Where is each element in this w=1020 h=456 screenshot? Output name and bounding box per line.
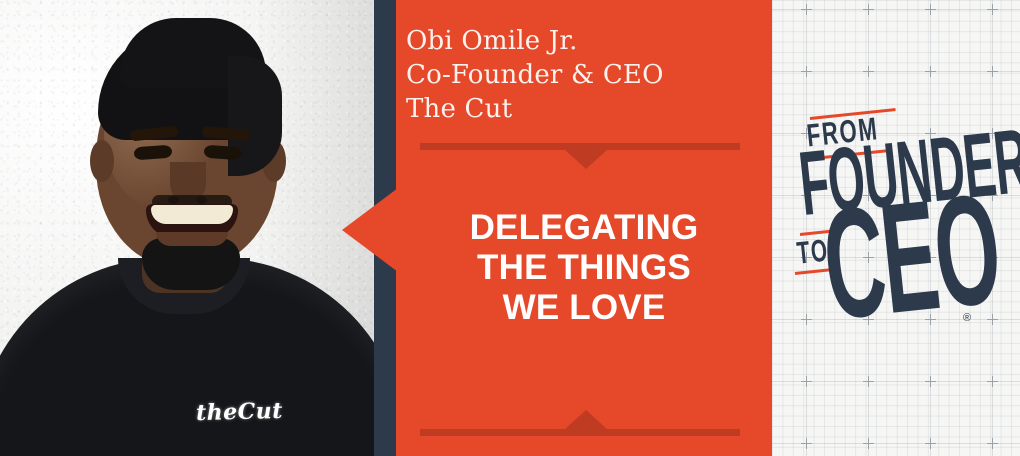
- logo-word-ceo: CEO: [817, 171, 1005, 344]
- speaker-company: The Cut: [406, 92, 746, 126]
- speaker-info: Obi Omile Jr. Co-Founder & CEO The Cut: [406, 24, 746, 126]
- triangle-up-icon: [565, 410, 607, 429]
- headline-line-3: WE LOVE: [396, 288, 772, 328]
- person-portrait: theCut: [0, 0, 374, 456]
- speaker-name: Obi Omile Jr.: [406, 24, 746, 58]
- top-divider-bar: [420, 143, 740, 150]
- lower-lip: [156, 232, 228, 246]
- episode-headline: DELEGATING THE THINGS WE LOVE: [396, 208, 772, 328]
- left-arrow-tab-icon: [342, 188, 398, 272]
- headline-line-1: DELEGATING: [396, 208, 772, 248]
- graph-paper-background: FROM FOUNDER TO CEO ®: [772, 0, 1020, 456]
- podcast-episode-banner: theCut Obi Omile Jr. Co-Founder & CEO Th…: [0, 0, 1020, 456]
- bottom-divider-bar: [420, 429, 740, 436]
- speaker-photo: theCut: [0, 0, 374, 456]
- speaker-title: Co-Founder & CEO: [406, 58, 746, 92]
- eye-right: [204, 145, 243, 161]
- brand-logo: FROM FOUNDER TO CEO ®: [772, 0, 1020, 456]
- shirt-logo-text: theCut: [196, 398, 283, 426]
- headline-line-2: THE THINGS: [396, 248, 772, 288]
- registered-trademark-icon: ®: [963, 312, 971, 324]
- teeth: [151, 205, 233, 224]
- triangle-down-icon: [565, 150, 607, 169]
- ear-left: [90, 140, 114, 182]
